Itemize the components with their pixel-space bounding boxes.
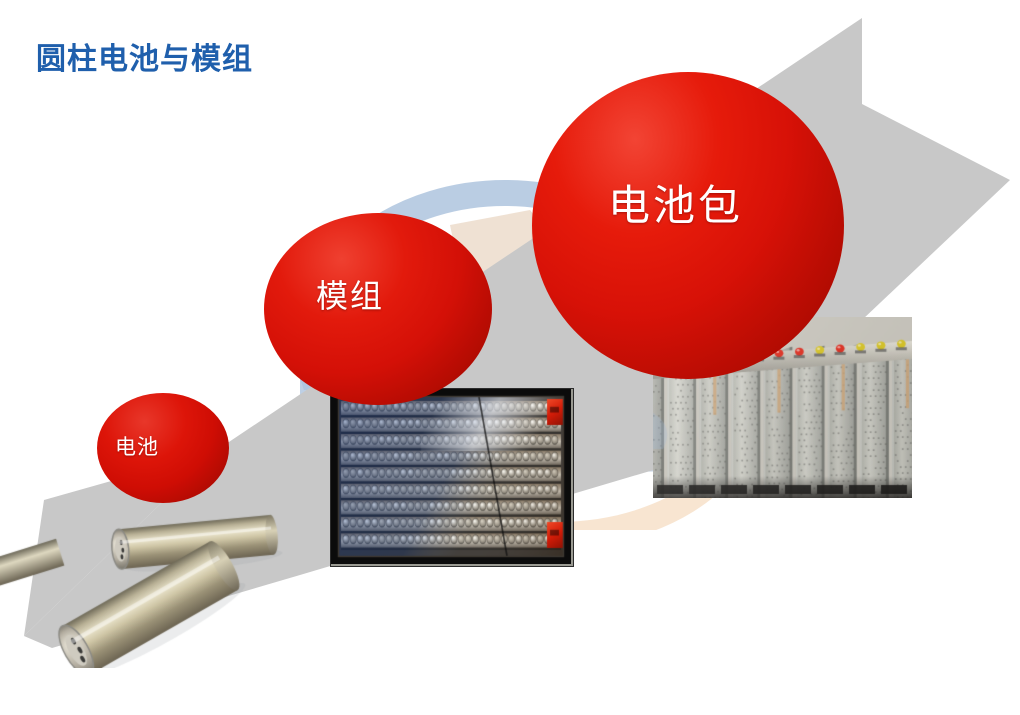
stage-bubble-module[interactable]: 模组 xyxy=(264,213,492,405)
slide-canvas: 智能 电池 模组 电池包 圆柱电池与模组 xyxy=(0,0,1020,715)
stage-bubble-cell[interactable]: 电池 xyxy=(97,393,229,503)
stage-label-pack: 电池包 xyxy=(608,172,743,233)
stage-bubble-pack[interactable]: 电池包 xyxy=(532,72,844,379)
page-title: 圆柱电池与模组 xyxy=(36,34,253,78)
battery-module-photo xyxy=(330,388,574,567)
stage-label-module: 模组 xyxy=(316,271,384,317)
cylindrical-cells-photo xyxy=(0,488,300,668)
stage-label-cell: 电池 xyxy=(115,431,159,461)
